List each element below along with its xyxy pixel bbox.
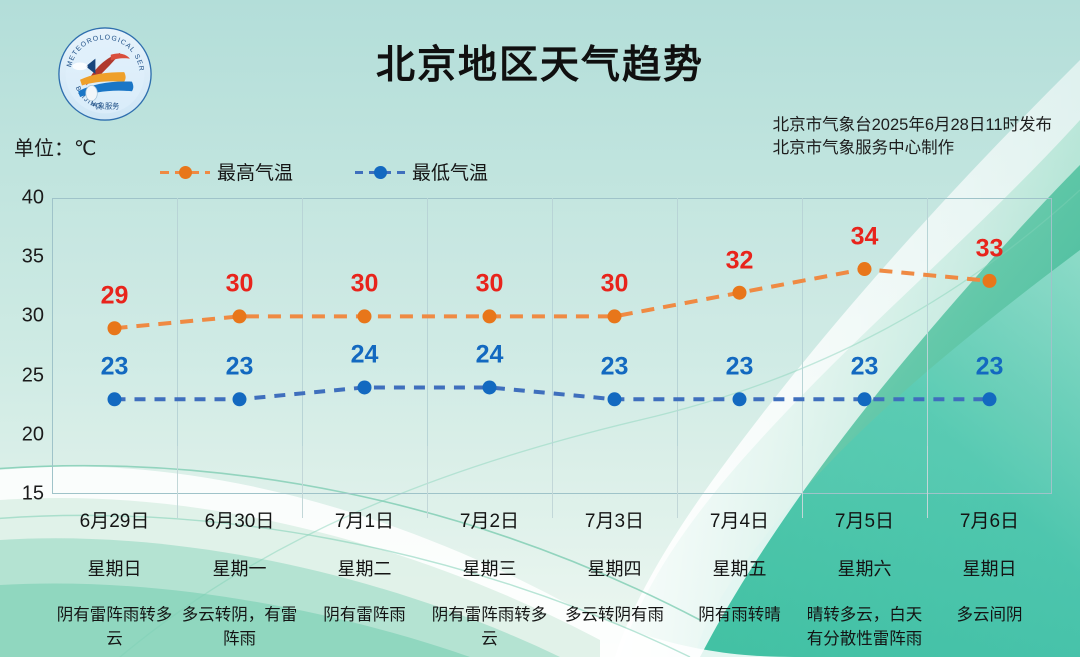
value-label-high-1: 30 bbox=[226, 270, 254, 299]
data-point-low-5[interactable] bbox=[733, 392, 747, 406]
y-tick-30: 30 bbox=[22, 305, 44, 328]
temperature-series bbox=[52, 198, 1052, 494]
data-point-high-5[interactable] bbox=[733, 286, 747, 300]
x-date-4: 7月3日 bbox=[585, 506, 644, 533]
x-weekday-3: 星期三 bbox=[463, 555, 517, 581]
value-label-high-3: 30 bbox=[476, 270, 504, 299]
header-band: METEOROLOGICAL SERVICE BEIJING 气象服务 北京地区… bbox=[0, 0, 1080, 112]
value-label-low-7: 23 bbox=[976, 353, 1004, 382]
legend-item-high[interactable]: 最高气温 bbox=[160, 158, 293, 185]
legend-label-high: 最高气温 bbox=[217, 158, 293, 185]
data-point-high-2[interactable] bbox=[358, 309, 372, 323]
x-date-0: 6月29日 bbox=[80, 506, 150, 533]
data-point-low-2[interactable] bbox=[358, 380, 372, 394]
value-label-high-7: 33 bbox=[976, 234, 1004, 263]
x-weekday-6: 星期六 bbox=[838, 555, 892, 581]
data-point-high-4[interactable] bbox=[608, 309, 622, 323]
publisher-line-1: 北京市气象台2025年6月28日11时发布 bbox=[773, 114, 1052, 137]
x-axis-column-1[interactable]: 6月30日星期一多云转阴，有雷阵雨 bbox=[177, 494, 302, 657]
data-point-high-3[interactable] bbox=[483, 309, 497, 323]
y-tick-15: 15 bbox=[22, 483, 44, 506]
x-condition-0: 阴有雷阵雨转多云 bbox=[54, 603, 175, 651]
data-point-low-3[interactable] bbox=[483, 380, 497, 394]
data-point-high-0[interactable] bbox=[108, 321, 122, 335]
value-label-low-2: 24 bbox=[351, 341, 379, 370]
svg-text:气象服务: 气象服务 bbox=[91, 102, 120, 111]
legend-swatch-low-icon bbox=[355, 165, 405, 179]
chart-legend: 最高气温 最低气温 bbox=[160, 158, 488, 185]
value-label-high-4: 30 bbox=[601, 270, 629, 299]
x-date-3: 7月2日 bbox=[460, 506, 519, 533]
y-tick-40: 40 bbox=[22, 187, 44, 210]
x-weekday-2: 星期二 bbox=[338, 555, 392, 581]
y-tick-25: 25 bbox=[22, 364, 44, 387]
value-label-high-6: 34 bbox=[851, 223, 879, 252]
value-label-low-5: 23 bbox=[726, 353, 754, 382]
data-point-low-7[interactable] bbox=[983, 392, 997, 406]
value-label-low-6: 23 bbox=[851, 353, 879, 382]
data-point-high-6[interactable] bbox=[858, 262, 872, 276]
x-axis-column-3[interactable]: 7月2日星期三阴有雷阵雨转多云 bbox=[427, 494, 552, 657]
data-point-high-7[interactable] bbox=[983, 274, 997, 288]
x-axis-column-2[interactable]: 7月1日星期二阴有雷阵雨 bbox=[302, 494, 427, 657]
publisher-info: 北京市气象台2025年6月28日11时发布 北京市气象服务中心制作 bbox=[773, 114, 1052, 160]
x-axis-columns: 6月29日星期日阴有雷阵雨转多云6月30日星期一多云转阴，有雷阵雨7月1日星期二… bbox=[52, 494, 1052, 657]
x-date-7: 7月6日 bbox=[960, 506, 1019, 533]
value-label-low-1: 23 bbox=[226, 353, 254, 382]
legend-label-low: 最低气温 bbox=[412, 158, 488, 185]
x-date-2: 7月1日 bbox=[335, 506, 394, 533]
x-weekday-7: 星期日 bbox=[963, 555, 1017, 581]
data-point-low-4[interactable] bbox=[608, 392, 622, 406]
value-label-high-5: 32 bbox=[726, 246, 754, 275]
x-axis-column-5[interactable]: 7月4日星期五阴有雨转晴 bbox=[677, 494, 802, 657]
x-axis-column-4[interactable]: 7月3日星期四多云转阴有雨 bbox=[552, 494, 677, 657]
x-condition-1: 多云转阴，有雷阵雨 bbox=[179, 603, 300, 651]
x-weekday-5: 星期五 bbox=[713, 555, 767, 581]
x-condition-7: 多云间阴 bbox=[929, 603, 1050, 627]
x-axis-column-6[interactable]: 7月5日星期六晴转多云，白天有分散性雷阵雨 bbox=[802, 494, 927, 657]
x-condition-3: 阴有雷阵雨转多云 bbox=[429, 603, 550, 651]
legend-swatch-high-icon bbox=[160, 165, 210, 179]
x-axis-column-0[interactable]: 6月29日星期日阴有雷阵雨转多云 bbox=[52, 494, 177, 657]
x-weekday-0: 星期日 bbox=[88, 555, 142, 581]
publisher-line-2: 北京市气象服务中心制作 bbox=[773, 137, 1052, 160]
y-tick-20: 20 bbox=[22, 423, 44, 446]
data-point-high-1[interactable] bbox=[233, 309, 247, 323]
page-title: 北京地区天气趋势 bbox=[0, 34, 1080, 90]
data-point-low-6[interactable] bbox=[858, 392, 872, 406]
value-label-low-4: 23 bbox=[601, 353, 629, 382]
x-weekday-4: 星期四 bbox=[588, 555, 642, 581]
value-label-high-2: 30 bbox=[351, 270, 379, 299]
y-axis: 152025303540 bbox=[0, 190, 52, 500]
value-label-low-3: 24 bbox=[476, 341, 504, 370]
x-condition-4: 多云转阴有雨 bbox=[554, 603, 675, 627]
legend-item-low[interactable]: 最低气温 bbox=[355, 158, 488, 185]
unit-label: 单位：℃ bbox=[14, 132, 96, 161]
x-condition-6: 晴转多云，白天有分散性雷阵雨 bbox=[804, 603, 925, 651]
x-axis-column-7[interactable]: 7月6日星期日多云间阴 bbox=[927, 494, 1052, 657]
value-label-high-0: 29 bbox=[101, 282, 129, 311]
y-tick-35: 35 bbox=[22, 246, 44, 269]
data-point-low-1[interactable] bbox=[233, 392, 247, 406]
x-date-5: 7月4日 bbox=[710, 506, 769, 533]
x-condition-2: 阴有雷阵雨 bbox=[304, 603, 425, 627]
x-weekday-1: 星期一 bbox=[213, 555, 267, 581]
x-date-1: 6月30日 bbox=[205, 506, 275, 533]
data-point-low-0[interactable] bbox=[108, 392, 122, 406]
value-label-low-0: 23 bbox=[101, 353, 129, 382]
x-condition-5: 阴有雨转晴 bbox=[679, 603, 800, 627]
x-date-6: 7月5日 bbox=[835, 506, 894, 533]
